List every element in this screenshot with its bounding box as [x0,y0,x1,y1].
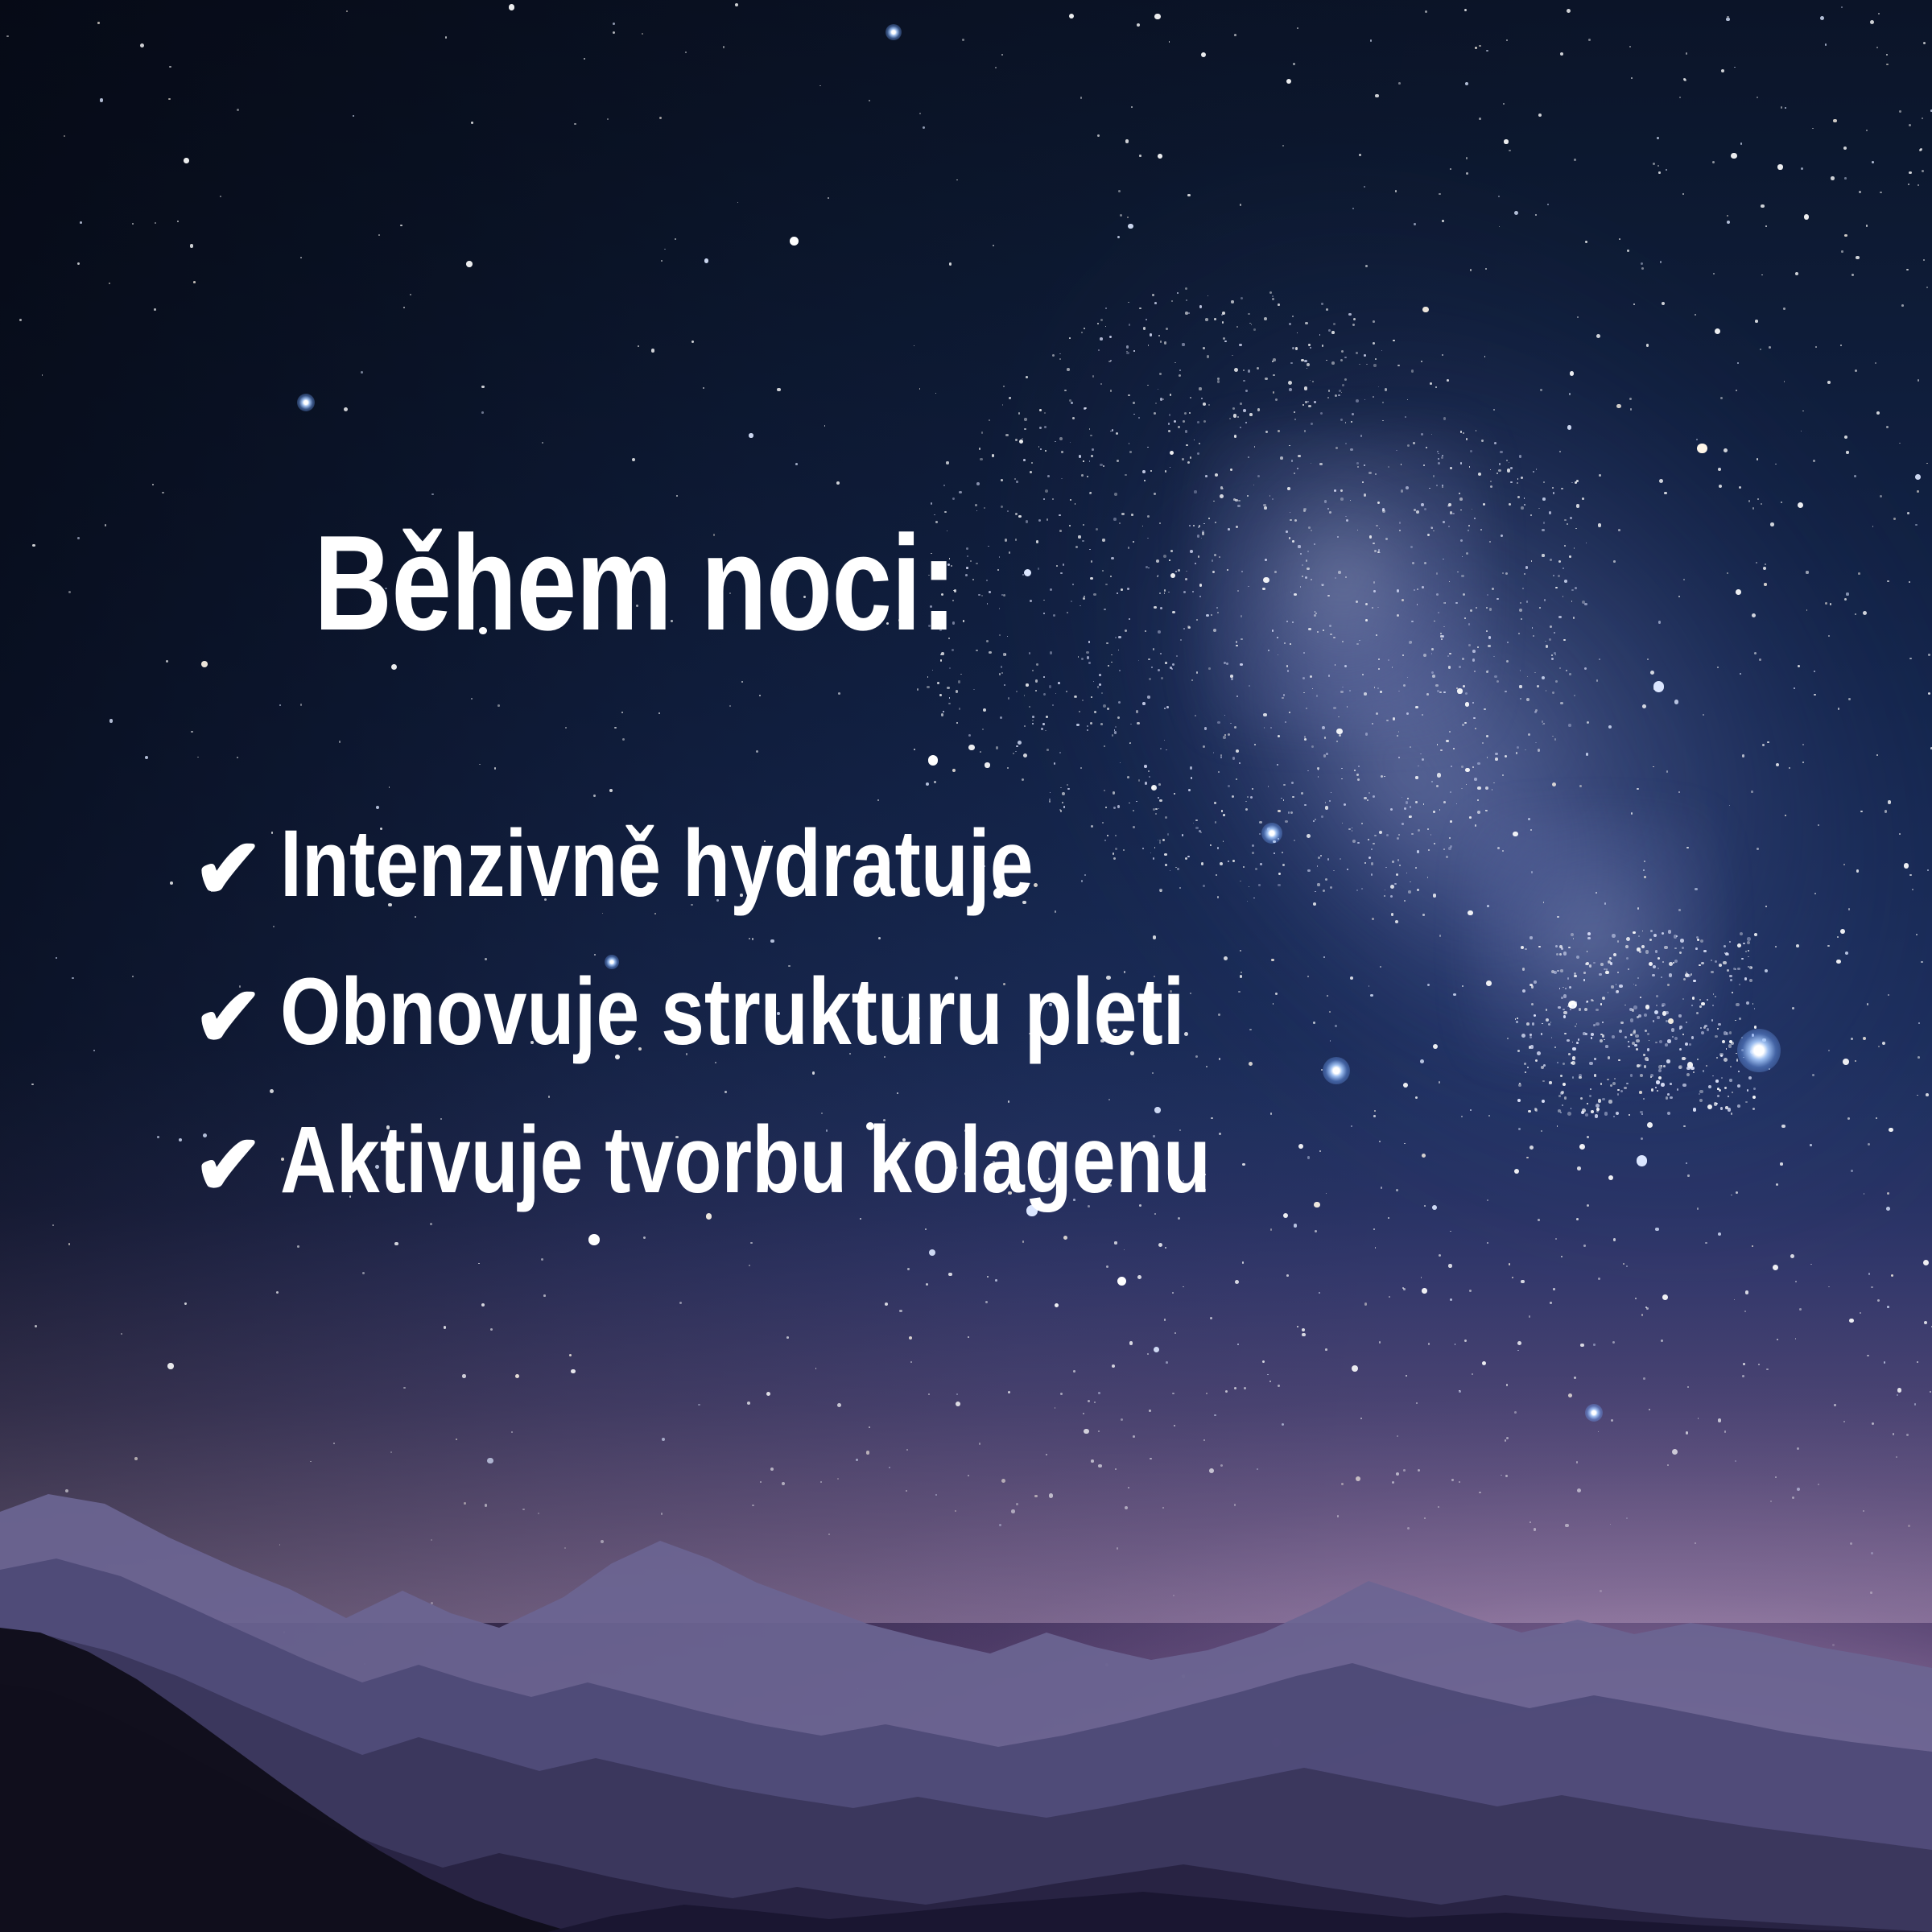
benefit-list: ✔ Intenzivně hydratuje ✔ Obnovuje strukt… [193,816,1723,1207]
text-content: Během noci: ✔ Intenzivně hydratuje ✔ Obn… [193,515,1723,1207]
mountain-svg [0,1417,1932,1932]
list-item: ✔ Intenzivně hydratuje [193,816,1723,911]
mountain-range [0,1417,1932,1932]
list-item-lead: Aktivuje tvorbu [280,1107,869,1213]
check-mark-icon: ✔ [193,976,280,1059]
list-item-lead: Obnovuje strukturu pleti [280,959,1185,1065]
bright-star [297,394,315,411]
list-item-emphasis: hydratuje [683,811,1034,917]
check-mark-icon: ✔ [193,1124,280,1207]
list-item-lead: Intenzivně [280,811,683,917]
page-title: Během noci: [314,515,1441,650]
poster-canvas: Během noci: ✔ Intenzivně hydratuje ✔ Obn… [0,0,1932,1932]
list-item-label: Aktivuje tvorbu kolagenu [280,1113,1211,1207]
bright-star [885,24,902,40]
check-mark-icon: ✔ [193,828,280,911]
list-item: ✔ Aktivuje tvorbu kolagenu [193,1113,1723,1207]
list-item: ✔ Obnovuje strukturu pleti [193,964,1723,1059]
list-item-label: Intenzivně hydratuje [280,816,1034,911]
bright-star [1737,1029,1781,1072]
list-item-emphasis: kolagenu [869,1107,1211,1213]
list-item-label: Obnovuje strukturu pleti [280,964,1185,1059]
